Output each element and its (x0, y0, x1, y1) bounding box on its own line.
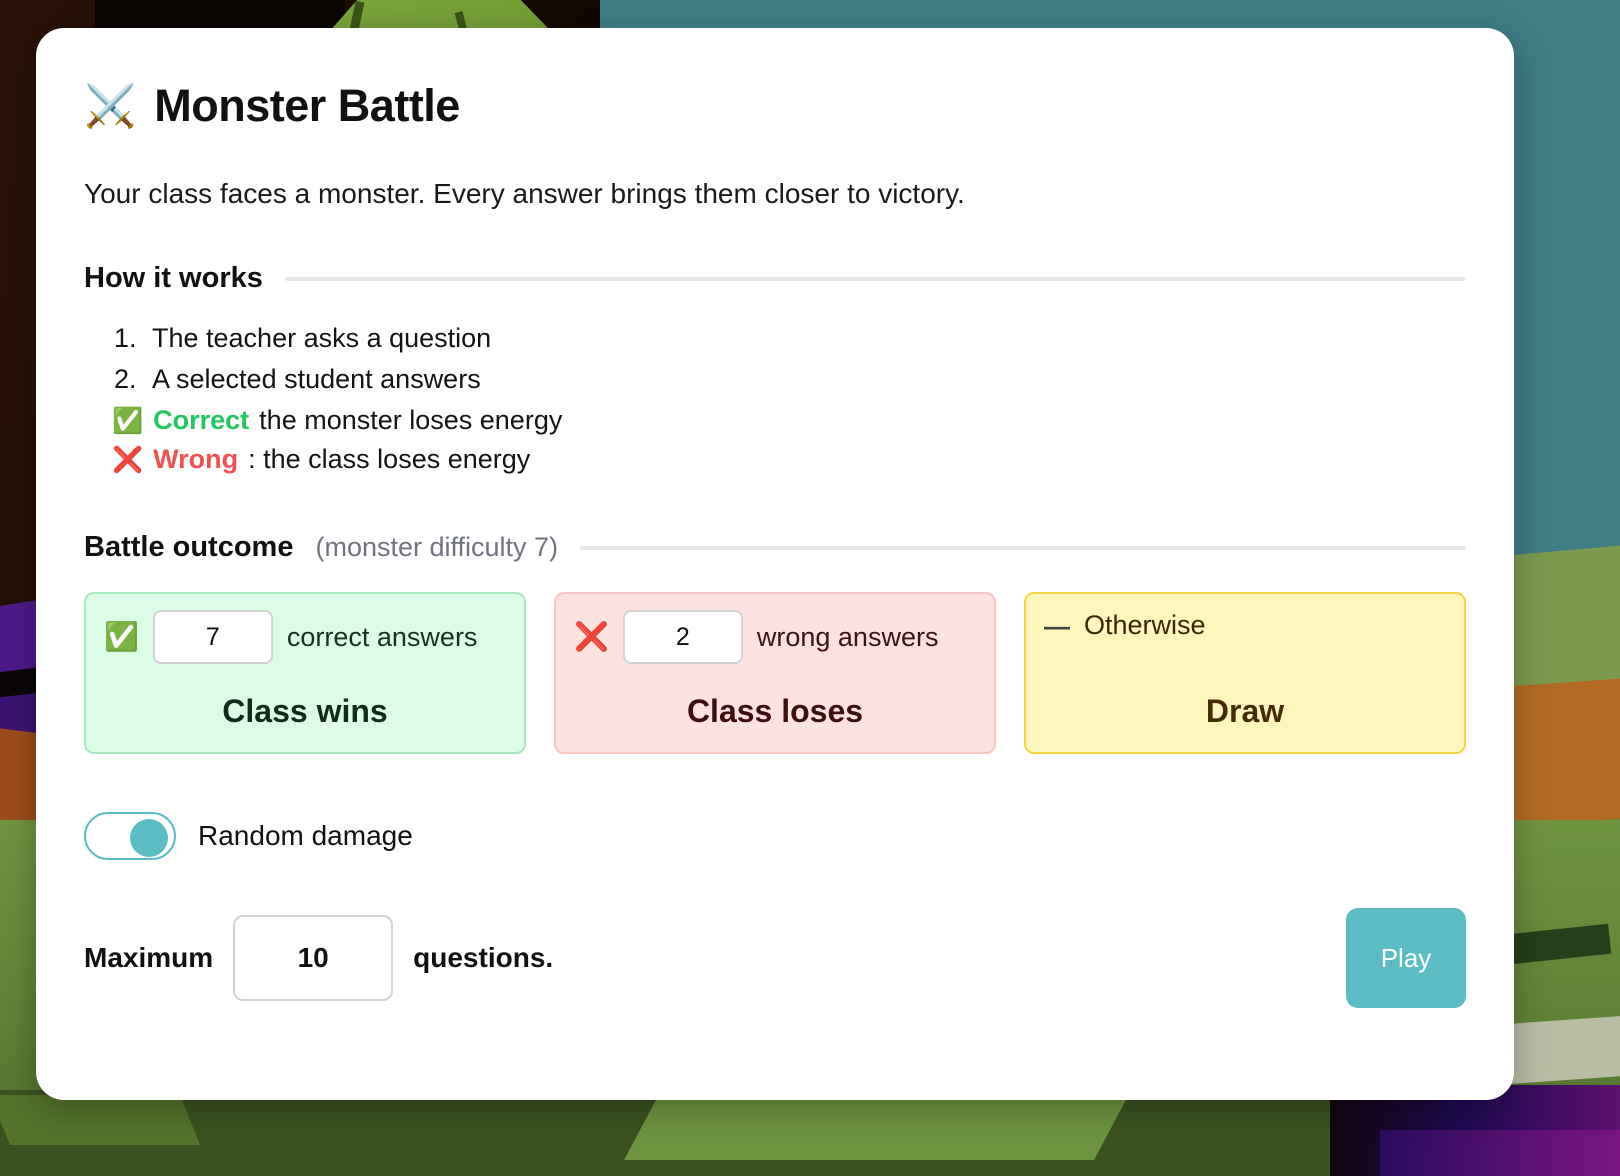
correct-answers-label: correct answers (287, 622, 478, 653)
play-button[interactable]: Play (1346, 908, 1466, 1008)
how-it-works-title: How it works (84, 262, 263, 295)
maximum-suffix-label: questions. (413, 942, 553, 974)
wrong-description: : the class loses energy (248, 444, 530, 475)
outcome-cards: ✅ correct answers Class wins ❌ wrong ans… (84, 592, 1466, 754)
crossed-swords-icon: ⚔️ (84, 85, 136, 127)
outcome-win-result: Class wins (104, 679, 506, 730)
battle-outcome-header: Battle outcome (monster difficulty 7) (84, 531, 1466, 564)
wrong-keyword: Wrong (153, 444, 238, 475)
dash-icon: — (1044, 613, 1070, 639)
monster-battle-dialog: ⚔️ Monster Battle Your class faces a mon… (36, 28, 1514, 1100)
outcome-card-lose-row: ❌ wrong answers (574, 610, 976, 664)
outcome-card-lose: ❌ wrong answers Class loses (554, 592, 996, 754)
wrong-answers-label: wrong answers (757, 622, 939, 653)
random-damage-row: Random damage (84, 812, 1466, 860)
outcome-card-draw-row: — Otherwise (1044, 610, 1446, 641)
battle-outcome-title: Battle outcome (84, 531, 293, 564)
cross-mark-icon: ❌ (112, 446, 143, 475)
dialog-header: ⚔️ Monster Battle (84, 80, 1466, 132)
steps-list: The teacher asks a question A selected s… (144, 323, 1466, 395)
maximum-prefix-label: Maximum (84, 942, 213, 974)
random-damage-toggle[interactable] (84, 812, 176, 860)
check-mark-icon: ✅ (112, 407, 143, 436)
outcome-card-draw: — Otherwise Draw (1024, 592, 1466, 754)
correct-description: the monster loses energy (259, 405, 562, 436)
otherwise-label: Otherwise (1084, 610, 1206, 641)
game-background-scene: ⚔️ Monster Battle Your class faces a mon… (0, 0, 1620, 1176)
outcome-card-win: ✅ correct answers Class wins (84, 592, 526, 754)
how-it-works-header: How it works (84, 262, 1466, 295)
outcome-draw-result: Draw (1044, 679, 1446, 730)
correct-rule-line: ✅ Correct the monster loses energy (112, 405, 1466, 436)
grass-blade-shape (624, 1100, 1126, 1160)
section-divider (285, 277, 1466, 281)
page-title: Monster Battle (154, 80, 460, 132)
list-item: The teacher asks a question (144, 323, 1466, 354)
wrong-rule-line: ❌ Wrong : the class loses energy (112, 444, 1466, 475)
outcome-lose-result: Class loses (574, 679, 976, 730)
dialog-footer: Maximum questions. Play (84, 908, 1466, 1008)
toggle-knob (130, 819, 168, 857)
outcome-card-win-row: ✅ correct answers (104, 610, 506, 664)
purple-bottom-layer-2 (1380, 1130, 1620, 1176)
dialog-description: Your class faces a monster. Every answer… (84, 178, 1466, 210)
how-it-works-body: The teacher asks a question A selected s… (84, 323, 1466, 475)
cross-mark-icon: ❌ (574, 623, 609, 651)
list-item: A selected student answers (144, 364, 1466, 395)
grass-blade-shape-2 (0, 1095, 200, 1145)
correct-answers-input[interactable] (153, 610, 273, 664)
maximum-questions-input[interactable] (233, 915, 393, 1001)
section-divider (580, 546, 1466, 550)
correct-keyword: Correct (153, 405, 249, 436)
monster-difficulty-note: (monster difficulty 7) (315, 532, 558, 563)
random-damage-label: Random damage (198, 820, 413, 852)
check-mark-icon: ✅ (104, 623, 139, 651)
grass-light-patch (1498, 1016, 1620, 1085)
wrong-answers-input[interactable] (623, 610, 743, 664)
